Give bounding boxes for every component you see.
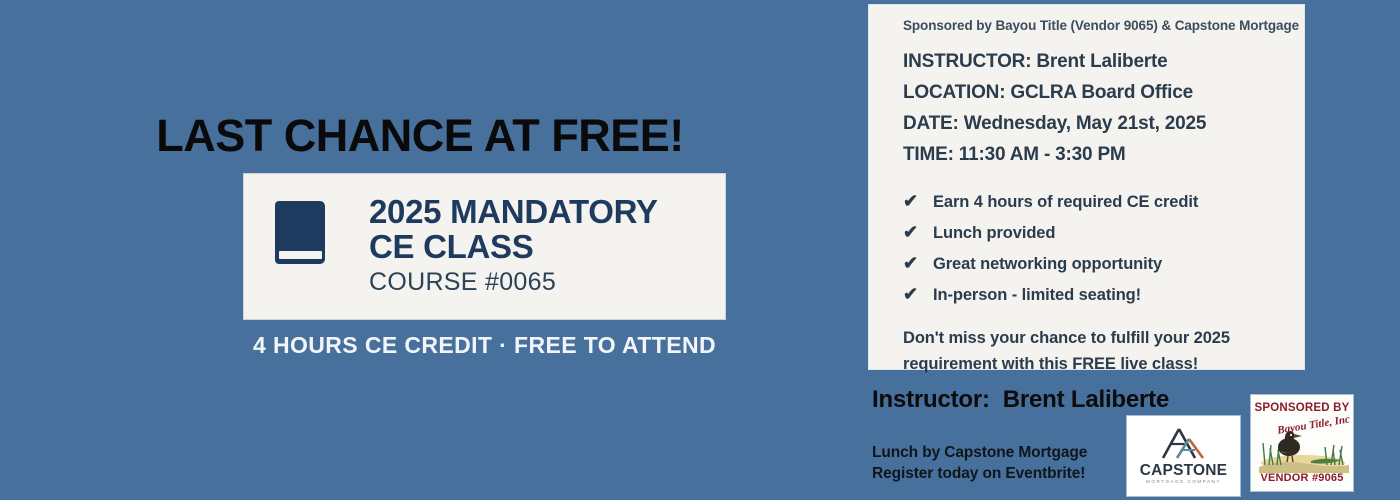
event-detail-list: INSTRUCTOR: Brent Laliberte LOCATION: GC… [903,47,1282,171]
detail-row-date: DATE: Wednesday, May 21st, 2025 [903,109,1282,140]
closing-note-line-2: requirement with this FREE live class! [903,351,1282,377]
course-card: 2025 MANDATORY CE CLASS COURSE #0065 [243,173,726,320]
event-details-card: Sponsored by Bayou Title (Vendor 9065) &… [868,4,1305,370]
sponsor-line: Sponsored by Bayou Title (Vendor 9065) &… [903,18,1282,33]
book-pages [279,251,322,259]
course-number: COURSE #0065 [369,268,715,297]
detail-row-location: LOCATION: GCLRA Board Office [903,78,1282,109]
list-item-label: Lunch provided [933,219,1055,248]
credit-banner: 4 HOURS CE CREDIT · FREE TO ATTEND [243,332,726,359]
capstone-mountain-icon [1155,427,1213,461]
list-item: ✔ In-person - limited seating! [903,279,1282,310]
benefits-list: ✔ Earn 4 hours of required CE credit ✔ L… [903,186,1282,311]
list-item-label: Earn 4 hours of required CE credit [933,188,1198,217]
capstone-logo-tagline: MORTGAGE COMPANY [1146,480,1221,485]
course-title-line-2: CE CLASS [369,229,715,264]
closing-note-line-1: Don't miss your chance to fulfill your 2… [903,325,1282,351]
closing-note: Don't miss your chance to fulfill your 2… [903,325,1282,377]
list-item-label: Great networking opportunity [933,250,1162,279]
bayou-logo-vendor-text: VENDOR #9065 [1251,472,1353,484]
bayou-logo-top-text: SPONSORED BY [1251,402,1353,414]
list-item: ✔ Earn 4 hours of required CE credit [903,186,1282,217]
capstone-logo-name: CAPSTONE [1140,463,1227,479]
course-title-line-1: 2025 MANDATORY [369,194,715,229]
footer-note-line-1: Lunch by Capstone Mortgage [872,443,1087,464]
list-item-label: In-person - limited seating! [933,281,1141,310]
checkmark-icon: ✔ [903,186,933,217]
book-icon [275,201,325,264]
course-card-text: 2025 MANDATORY CE CLASS COURSE #0065 [369,194,715,297]
promo-left-panel: LAST CHANCE AT FREE! 2025 MANDATORY CE C… [0,0,840,500]
checkmark-icon: ✔ [903,279,933,310]
page-title: LAST CHANCE AT FREE! [0,113,840,158]
instructor-name-line: Instructor: Brent Laliberte [872,386,1169,414]
bayou-title-sponsor-logo: SPONSORED BY Bayou Title, Inc VENDOR #90… [1250,394,1354,492]
footer-note: Lunch by Capstone Mortgage Register toda… [872,443,1087,484]
detail-row-instructor: INSTRUCTOR: Brent Laliberte [903,47,1282,78]
checkmark-icon: ✔ [903,217,933,248]
detail-row-time: TIME: 11:30 AM - 3:30 PM [903,140,1282,171]
capstone-mortgage-logo: CAPSTONE MORTGAGE COMPANY [1126,415,1241,497]
footer-note-line-2: Register today on Eventbrite! [872,464,1087,485]
list-item: ✔ Great networking opportunity [903,248,1282,279]
list-item: ✔ Lunch provided [903,217,1282,248]
checkmark-icon: ✔ [903,248,933,279]
